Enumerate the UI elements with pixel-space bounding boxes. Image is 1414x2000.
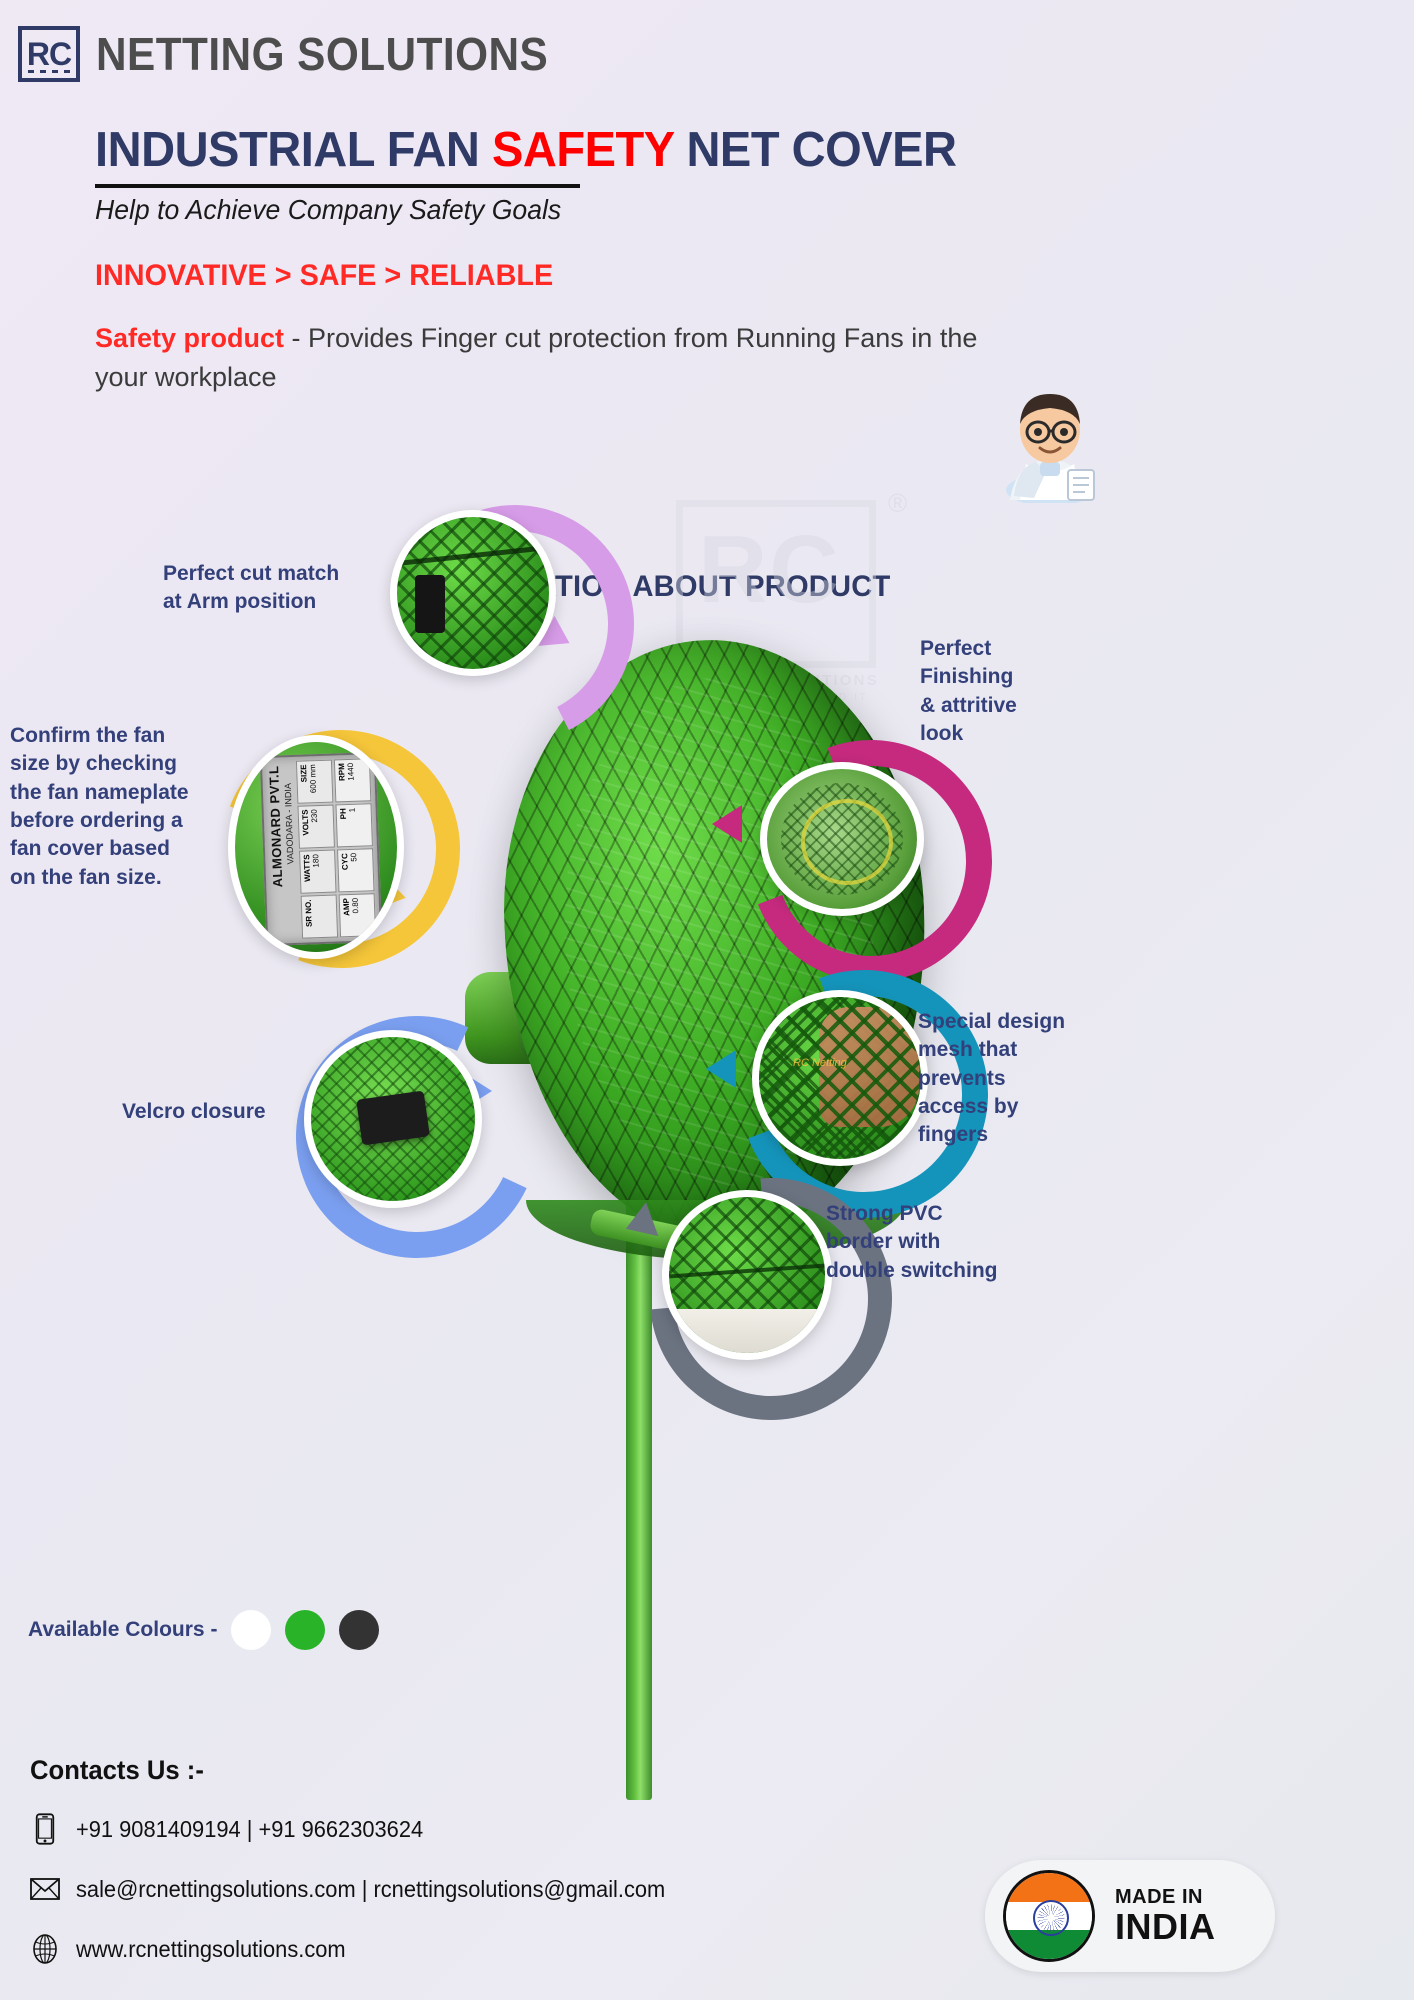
callout-image-arm-position xyxy=(390,510,556,676)
available-colours: Available Colours - xyxy=(28,1610,379,1650)
pvc-border-strip xyxy=(669,1309,825,1353)
subtitle: Help to Achieve Company Safety Goals xyxy=(95,192,1045,228)
ashoka-chakra-icon xyxy=(1033,1900,1069,1936)
callout-label-pvc-border: Strong PVC border with double switching xyxy=(826,1200,1036,1285)
made-in-india-line2: INDIA xyxy=(1115,1908,1216,1946)
contact-row-phone[interactable]: +91 9081409194 | +91 9662303624 xyxy=(30,1812,930,1846)
title-highlight: SAFETY xyxy=(492,123,674,177)
callout-arrow-special-mesh xyxy=(706,1050,736,1088)
contact-phone: +91 9081409194 | +91 9662303624 xyxy=(76,1816,423,1843)
envelope-icon xyxy=(30,1872,60,1906)
description-strong: Safety product xyxy=(95,323,284,353)
rc-logo-text: RC xyxy=(27,38,71,70)
nameplate-key: PH xyxy=(339,808,348,819)
headline-block: INDUSTRIAL FAN SAFETY NET COVER Help to … xyxy=(95,125,1095,397)
brand-header: RC NETTING SOLUTIONS xyxy=(18,26,588,82)
contact-email: sale@rcnettingsolutions.com | rcnettings… xyxy=(76,1876,665,1903)
nameplate-value: 230 xyxy=(310,809,319,823)
callout-image-perfect-finishing xyxy=(760,762,924,916)
nameplate-value: 600 mm xyxy=(308,764,318,793)
callout-label-arm-position: Perfect cut match at Arm position xyxy=(163,560,393,617)
velcro-strip xyxy=(356,1090,430,1145)
page-title: INDUSTRIAL FAN SAFETY NET COVER xyxy=(95,125,1055,176)
callout-label-velcro-closure: Velcro closure xyxy=(122,1098,322,1126)
nameplate-city: VADODARA - INDIA xyxy=(283,783,296,865)
nameplate-rows: SIZE 600 mm VOLTS 230 WATTS 180 SR NO. xyxy=(296,758,376,938)
nameplate-key: SR NO. xyxy=(304,899,314,927)
contact-row-email[interactable]: sale@rcnettingsolutions.com | rcnettings… xyxy=(30,1872,930,1906)
description: Safety product - Provides Finger cut pro… xyxy=(95,319,995,397)
nameplate-value: 0.80 xyxy=(351,898,361,914)
made-in-india-badge: MADE IN INDIA xyxy=(985,1860,1275,1972)
made-in-india-line1: MADE IN xyxy=(1115,1886,1216,1908)
special-mesh-texture xyxy=(759,997,921,1159)
nameplate-value: 50 xyxy=(349,853,358,862)
pvc-stitch-line xyxy=(669,1264,825,1279)
nameplate-value: 1 xyxy=(348,808,357,813)
nameplate-plate: ALMONARD PVT.L VADODARA - INDIA SIZE 600… xyxy=(260,752,383,946)
title-part1: INDUSTRIAL FAN xyxy=(95,123,492,177)
contacts-title: Contacts Us :- xyxy=(30,1755,885,1786)
callout-image-pvc-border xyxy=(662,1190,832,1360)
made-in-india-text: MADE IN INDIA xyxy=(1115,1886,1216,1946)
flag-stripe-saffron xyxy=(1006,1873,1092,1902)
photo-watermark-text: RC Netting xyxy=(793,1057,847,1069)
colour-swatch-white[interactable] xyxy=(231,1610,271,1650)
mascot-illustration-icon xyxy=(990,378,1110,503)
rc-logo-icon: RC xyxy=(18,26,80,82)
callout-label-perfect-finishing: Perfect Finishing & attritive look xyxy=(920,635,1100,748)
tagline: INNOVATIVE > SAFE > RELIABLE xyxy=(95,259,1055,293)
finishing-fan-ring xyxy=(801,799,893,885)
poster-root: RC NETTING SOLUTIONS INDUSTRIAL FAN SAFE… xyxy=(0,0,1414,2000)
title-divider xyxy=(95,184,580,188)
contact-row-website[interactable]: www.rcnettingsolutions.com xyxy=(30,1932,930,1966)
brand-name: NETTING SOLUTIONS xyxy=(96,27,548,81)
available-colours-label: Available Colours - xyxy=(28,1618,217,1642)
callout-label-special-mesh: Special design mesh that prevents access… xyxy=(918,1008,1108,1150)
arm-cut-opening xyxy=(415,575,445,633)
india-flag-icon xyxy=(1003,1870,1095,1962)
nameplate-value: 180 xyxy=(311,854,320,868)
callout-label-fan-nameplate: Confirm the fan size by checking the fan… xyxy=(10,722,195,892)
colour-swatch-black[interactable] xyxy=(339,1610,379,1650)
arm-seam-line xyxy=(397,545,549,566)
contact-website: www.rcnettingsolutions.com xyxy=(76,1936,346,1963)
contacts-section: Contacts Us :- +91 9081409194 | +91 9662… xyxy=(30,1755,930,1966)
nameplate-value: 1440 xyxy=(346,763,356,781)
callout-arrow-perfect-finishing xyxy=(712,805,742,843)
callout-image-velcro-closure xyxy=(304,1030,482,1208)
callout-image-special-mesh: RC Netting xyxy=(752,990,928,1166)
mobile-phone-icon xyxy=(30,1812,60,1846)
callout-image-fan-nameplate: ALMONARD PVT.L VADODARA - INDIA SIZE 600… xyxy=(228,735,404,959)
colour-swatch-green[interactable] xyxy=(285,1610,325,1650)
watermark-registered-icon: ® xyxy=(888,488,907,519)
title-part2: NET COVER xyxy=(674,123,957,177)
globe-icon xyxy=(30,1932,60,1966)
